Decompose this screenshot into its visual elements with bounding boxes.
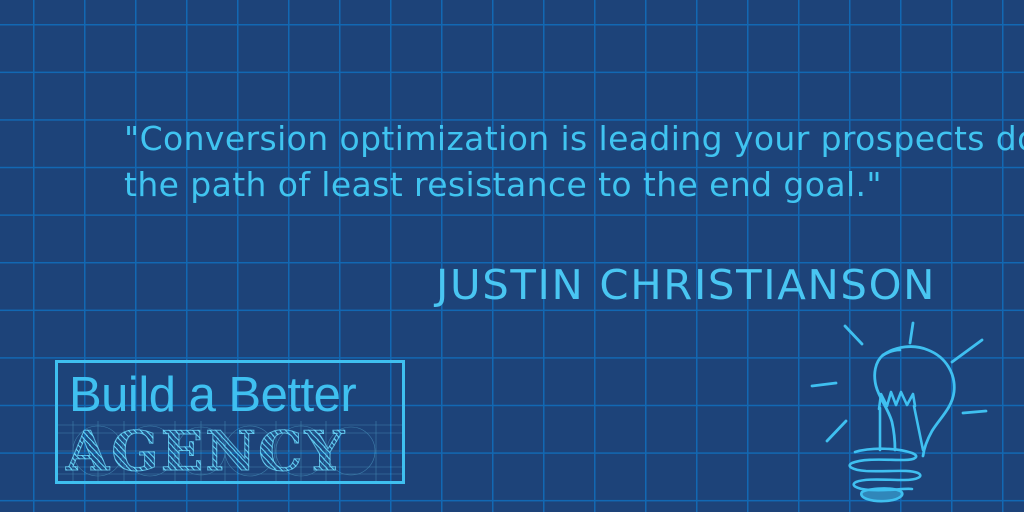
- logo-inner: Build a Better AGENCY: [58, 363, 402, 481]
- logo-bottom-text: AGENCY: [66, 419, 346, 481]
- blueprint-quote-card: "Conversion optimization is leading your…: [0, 0, 1024, 512]
- logo-top-text: Build a Better: [69, 367, 356, 423]
- logo-bottom-wrap: AGENCY: [58, 423, 402, 481]
- lightbulb-icon: [800, 300, 1024, 512]
- quote-line-1: "Conversion optimization is leading your…: [124, 116, 924, 162]
- quote-block: "Conversion optimization is leading your…: [124, 116, 924, 208]
- logo-badge: Build a Better AGENCY: [55, 360, 405, 484]
- quote-line-2: the path of least resistance to the end …: [124, 162, 924, 208]
